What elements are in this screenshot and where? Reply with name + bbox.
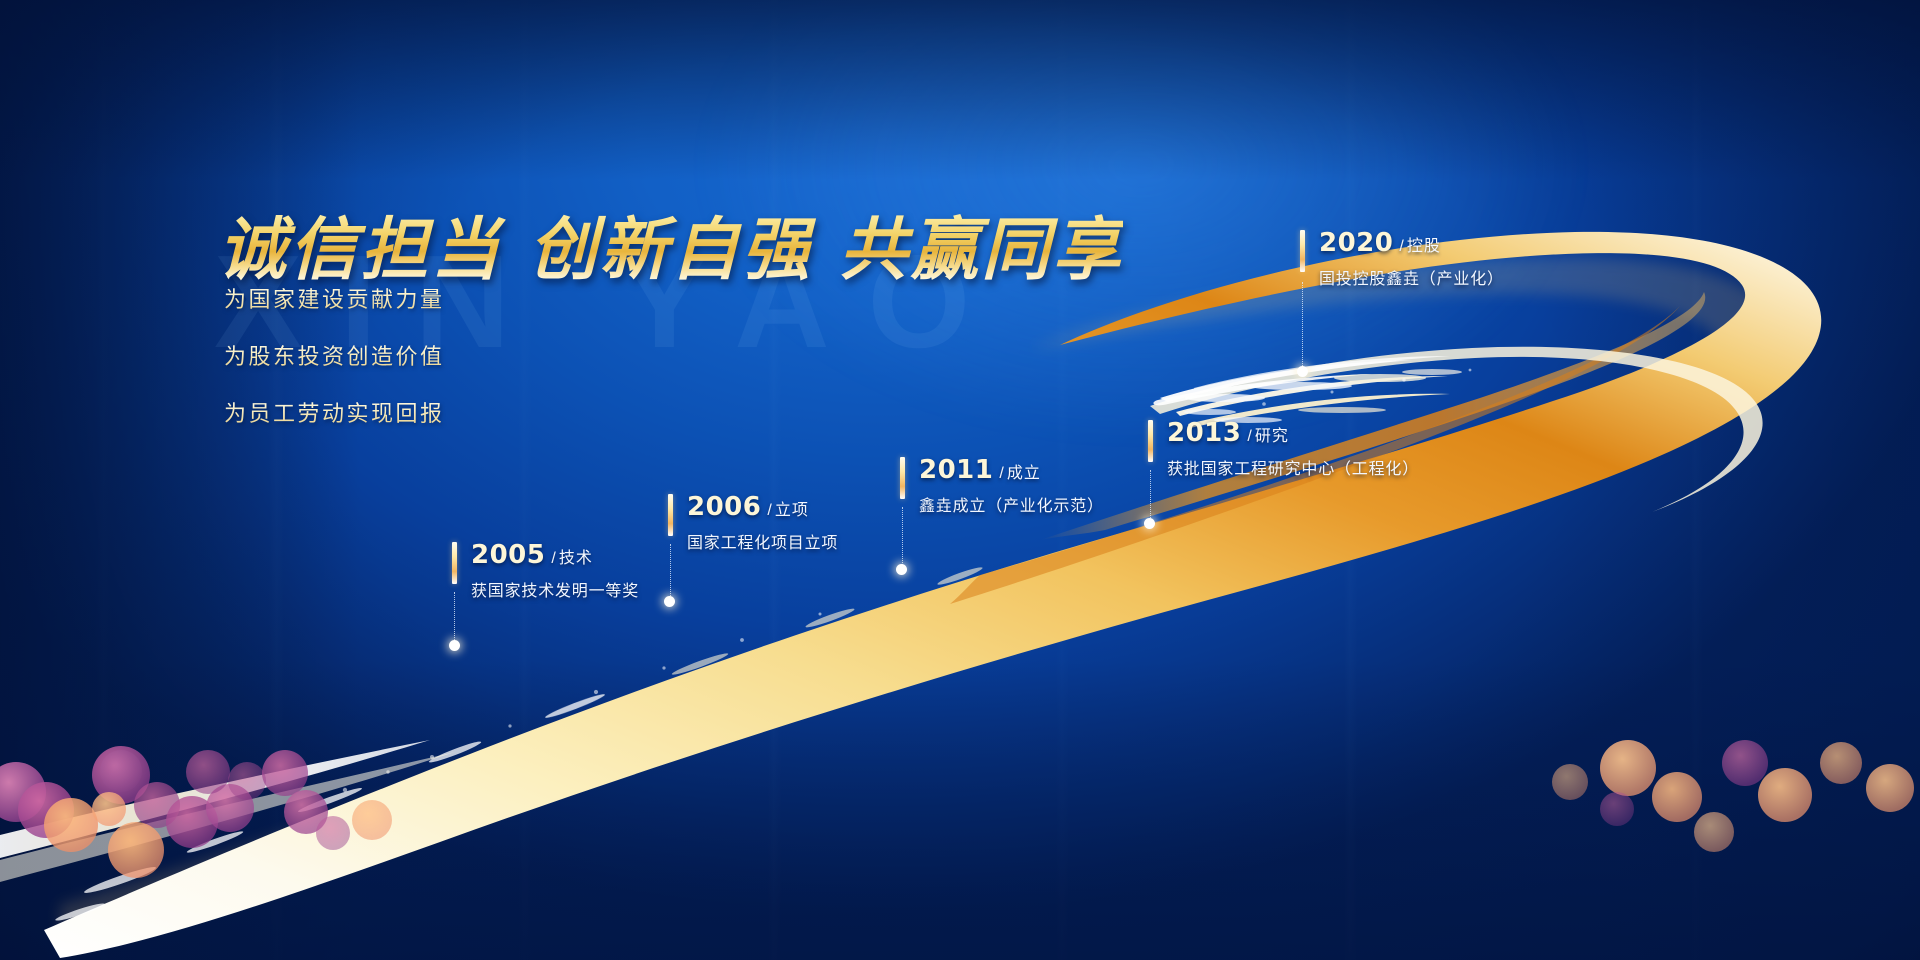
leader-line-2005: [454, 592, 455, 644]
marker-text: 2020/控股 国投控股鑫垚（产业化）: [1319, 228, 1504, 289]
timeline-item-2011[interactable]: 2011/成立 鑫垚成立（产业化示范）: [900, 455, 1104, 516]
marker-category: 控股: [1407, 236, 1441, 255]
marker-text: 2006/立项 国家工程化项目立项: [687, 492, 838, 553]
marker-separator: /: [551, 550, 555, 567]
marker-accent-bar: [668, 494, 673, 536]
slogan-list: 为国家建设贡献力量 为股东投资创造价值 为员工劳动实现回报: [224, 282, 445, 453]
timeline-item-2005[interactable]: 2005/技术 获国家技术发明一等奖: [452, 540, 639, 601]
marker-description: 获国家技术发明一等奖: [471, 577, 639, 601]
timeline-node-2013[interactable]: [1144, 518, 1155, 529]
marker-accent-bar: [452, 542, 457, 584]
timeline-node-2005[interactable]: [449, 640, 460, 651]
marker-year: 2013: [1167, 418, 1241, 448]
marker-text: 2011/成立 鑫垚成立（产业化示范）: [919, 455, 1104, 516]
marker-category: 立项: [775, 500, 809, 519]
timeline-node-2020[interactable]: [1297, 366, 1308, 377]
marker-accent-bar: [900, 457, 905, 499]
marker-year: 2011: [919, 455, 993, 485]
leader-line-2006: [670, 544, 671, 600]
leader-line-2020: [1302, 282, 1303, 368]
slogan-line: 为国家建设贡献力量: [224, 282, 445, 314]
leader-line-2013: [1150, 470, 1151, 520]
slogan-line: 为员工劳动实现回报: [224, 396, 445, 428]
marker-year: 2005: [471, 540, 545, 570]
marker-year: 2020: [1319, 228, 1393, 258]
timeline-item-2013[interactable]: 2013/研究 获批国家工程研究中心（工程化）: [1148, 418, 1419, 479]
marker-description: 国家工程化项目立项: [687, 529, 838, 553]
marker-description: 国投控股鑫垚（产业化）: [1319, 265, 1504, 289]
timeline-node-2006[interactable]: [664, 596, 675, 607]
marker-text: 2005/技术 获国家技术发明一等奖: [471, 540, 639, 601]
marker-separator: /: [1247, 428, 1251, 445]
timeline-node-2011[interactable]: [896, 564, 907, 575]
marker-description: 获批国家工程研究中心（工程化）: [1167, 455, 1419, 479]
marker-text: 2013/研究 获批国家工程研究中心（工程化）: [1167, 418, 1419, 479]
timeline-item-2006[interactable]: 2006/立项 国家工程化项目立项: [668, 492, 838, 553]
marker-separator: /: [1399, 238, 1403, 255]
marker-accent-bar: [1148, 420, 1153, 462]
banner-canvas: XIN YAO 诚信担当 创新自强 共赢同享诚信担当 创新自强 共赢同享 为国家…: [0, 0, 1920, 960]
marker-separator: /: [999, 465, 1003, 482]
page-title: 诚信担当 创新自强 共赢同享: [218, 194, 1123, 293]
marker-accent-bar: [1300, 230, 1305, 272]
leader-line-2011: [902, 507, 903, 565]
slogan-line: 为股东投资创造价值: [224, 339, 445, 371]
marker-description: 鑫垚成立（产业化示范）: [919, 492, 1104, 516]
marker-category: 技术: [559, 548, 593, 567]
marker-category: 成立: [1007, 463, 1041, 482]
marker-year: 2006: [687, 492, 761, 522]
timeline-item-2020[interactable]: 2020/控股 国投控股鑫垚（产业化）: [1300, 228, 1504, 289]
marker-category: 研究: [1255, 426, 1289, 445]
marker-separator: /: [767, 502, 771, 519]
